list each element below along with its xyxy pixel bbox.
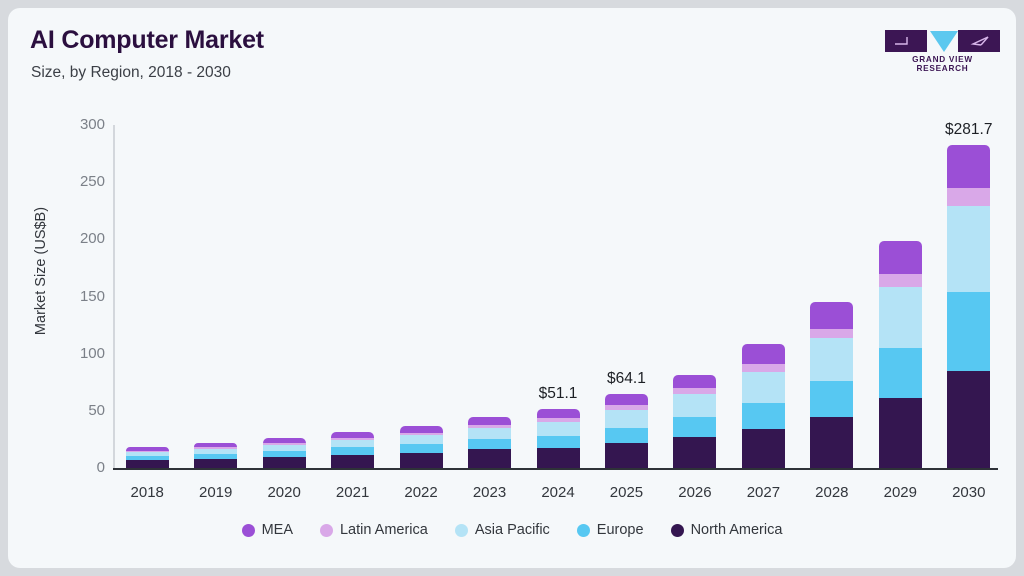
y-axis-label: Market Size (US$B) bbox=[33, 191, 49, 351]
x-axis-tick-label: 2030 bbox=[952, 484, 985, 501]
bar-segment-mea[interactable] bbox=[879, 241, 922, 274]
bar-segment-europe[interactable] bbox=[400, 443, 443, 453]
bar-segment-asia-pacific[interactable] bbox=[468, 428, 511, 439]
bar-value-label-2025: $64.1 bbox=[607, 370, 646, 388]
bar-segment-latin-america[interactable] bbox=[468, 425, 511, 429]
bar-segment-mea[interactable] bbox=[537, 409, 580, 418]
bar-segment-mea[interactable] bbox=[673, 375, 716, 388]
bar-2028[interactable] bbox=[810, 302, 853, 468]
bar-segment-asia-pacific[interactable] bbox=[947, 205, 990, 292]
bar-segment-latin-america[interactable] bbox=[879, 273, 922, 287]
x-axis-tick-label: 2029 bbox=[884, 484, 917, 501]
bar-segment-europe[interactable] bbox=[879, 348, 922, 399]
bar-2023[interactable] bbox=[468, 418, 511, 468]
legend-swatch-icon bbox=[320, 524, 333, 537]
bar-2018[interactable] bbox=[126, 447, 169, 468]
x-axis-tick-label: 2021 bbox=[336, 484, 369, 501]
bar-segment-europe[interactable] bbox=[468, 438, 511, 450]
legend-swatch-icon bbox=[242, 524, 255, 537]
bar-segment-asia-pacific[interactable] bbox=[263, 444, 306, 450]
stacked-bar-chart: Market Size (US$B) 050100150200250300 20… bbox=[8, 8, 1016, 568]
bar-segment-europe[interactable] bbox=[742, 402, 785, 429]
bar-2027[interactable] bbox=[742, 345, 785, 468]
bar-segment-europe[interactable] bbox=[194, 453, 237, 459]
bar-segment-north-america[interactable] bbox=[810, 417, 853, 468]
bar-2030[interactable] bbox=[947, 146, 990, 468]
x-axis-tick-label: 2023 bbox=[473, 484, 506, 501]
y-axis-tick-label: 150 bbox=[59, 288, 105, 305]
bar-segment-asia-pacific[interactable] bbox=[331, 440, 374, 448]
bar-segment-latin-america[interactable] bbox=[331, 438, 374, 441]
bar-segment-mea[interactable] bbox=[468, 417, 511, 425]
bar-segment-mea[interactable] bbox=[263, 438, 306, 443]
bar-2029[interactable] bbox=[879, 242, 922, 468]
bar-value-label-2024: $51.1 bbox=[539, 385, 578, 403]
x-axis-line bbox=[113, 468, 998, 470]
bar-segment-europe[interactable] bbox=[537, 435, 580, 448]
x-axis-tick-label: 2025 bbox=[610, 484, 643, 501]
bar-segment-latin-america[interactable] bbox=[537, 417, 580, 421]
chart-card: AI Computer Market Size, by Region, 2018… bbox=[8, 8, 1016, 568]
legend-label: Europe bbox=[597, 522, 644, 538]
y-axis-line bbox=[113, 125, 115, 469]
bar-segment-asia-pacific[interactable] bbox=[537, 421, 580, 436]
bar-segment-north-america[interactable] bbox=[400, 452, 443, 468]
bar-segment-north-america[interactable] bbox=[331, 454, 374, 468]
x-axis-tick-label: 2027 bbox=[747, 484, 780, 501]
bar-segment-asia-pacific[interactable] bbox=[400, 435, 443, 444]
bar-segment-north-america[interactable] bbox=[742, 429, 785, 468]
bar-segment-latin-america[interactable] bbox=[742, 363, 785, 371]
bar-2019[interactable] bbox=[194, 443, 237, 468]
bar-segment-asia-pacific[interactable] bbox=[742, 371, 785, 403]
bar-segment-latin-america[interactable] bbox=[605, 405, 648, 410]
y-axis-tick-label: 200 bbox=[59, 230, 105, 247]
bar-segment-latin-america[interactable] bbox=[947, 188, 990, 206]
x-axis-tick-label: 2018 bbox=[131, 484, 164, 501]
y-axis-tick-label: 0 bbox=[59, 459, 105, 476]
x-axis-tick-label: 2022 bbox=[404, 484, 437, 501]
bar-segment-europe[interactable] bbox=[331, 447, 374, 455]
bar-segment-mea[interactable] bbox=[605, 394, 648, 405]
bar-2025[interactable] bbox=[605, 395, 648, 468]
x-axis-tick-label: 2019 bbox=[199, 484, 232, 501]
bar-value-label-2030: $281.7 bbox=[945, 121, 992, 139]
legend-swatch-icon bbox=[455, 524, 468, 537]
bar-segment-asia-pacific[interactable] bbox=[879, 286, 922, 348]
legend-label: MEA bbox=[262, 522, 293, 538]
bar-segment-latin-america[interactable] bbox=[810, 328, 853, 338]
bar-segment-europe[interactable] bbox=[605, 427, 648, 443]
x-axis-tick-label: 2026 bbox=[678, 484, 711, 501]
bar-2022[interactable] bbox=[400, 426, 443, 468]
legend-label: Asia Pacific bbox=[475, 522, 550, 538]
bar-segment-north-america[interactable] bbox=[605, 443, 648, 468]
legend-item-north-america[interactable]: North America bbox=[671, 522, 783, 538]
bar-segment-europe[interactable] bbox=[263, 450, 306, 457]
bar-segment-mea[interactable] bbox=[400, 426, 443, 433]
bar-segment-europe[interactable] bbox=[947, 291, 990, 371]
bar-segment-europe[interactable] bbox=[673, 417, 716, 438]
bar-segment-europe[interactable] bbox=[126, 455, 169, 460]
bar-segment-north-america[interactable] bbox=[947, 371, 990, 468]
chart-legend: MEALatin AmericaAsia PacificEuropeNorth … bbox=[8, 522, 1016, 538]
y-axis-tick-label: 50 bbox=[59, 402, 105, 419]
x-axis-tick-label: 2028 bbox=[815, 484, 848, 501]
bar-segment-north-america[interactable] bbox=[879, 398, 922, 468]
bar-segment-north-america[interactable] bbox=[468, 449, 511, 468]
bar-segment-asia-pacific[interactable] bbox=[126, 451, 169, 456]
legend-swatch-icon bbox=[577, 524, 590, 537]
bar-segment-north-america[interactable] bbox=[673, 437, 716, 468]
legend-label: North America bbox=[691, 522, 783, 538]
bar-segment-north-america[interactable] bbox=[537, 448, 580, 468]
bar-segment-mea[interactable] bbox=[194, 443, 237, 447]
bar-2024[interactable] bbox=[537, 410, 580, 468]
legend-item-mea[interactable]: MEA bbox=[242, 522, 293, 538]
bar-segment-asia-pacific[interactable] bbox=[810, 338, 853, 381]
bar-segment-north-america[interactable] bbox=[126, 460, 169, 468]
bar-segment-mea[interactable] bbox=[742, 344, 785, 364]
y-axis-tick-label: 300 bbox=[59, 116, 105, 133]
y-axis-tick-label: 100 bbox=[59, 345, 105, 362]
bar-segment-mea[interactable] bbox=[947, 145, 990, 188]
legend-item-latin-america[interactable]: Latin America bbox=[320, 522, 428, 538]
bar-2020[interactable] bbox=[263, 439, 306, 468]
legend-item-europe[interactable]: Europe bbox=[577, 522, 644, 538]
x-axis-tick-label: 2024 bbox=[541, 484, 574, 501]
legend-label: Latin America bbox=[340, 522, 428, 538]
bar-segment-asia-pacific[interactable] bbox=[605, 409, 648, 428]
bar-segment-latin-america[interactable] bbox=[673, 388, 716, 394]
legend-item-asia-pacific[interactable]: Asia Pacific bbox=[455, 522, 550, 538]
bar-segment-mea[interactable] bbox=[126, 447, 169, 451]
bar-2021[interactable] bbox=[331, 433, 374, 468]
bar-segment-asia-pacific[interactable] bbox=[194, 448, 237, 454]
bar-segment-mea[interactable] bbox=[331, 432, 374, 438]
bar-segment-north-america[interactable] bbox=[194, 458, 237, 468]
bar-segment-asia-pacific[interactable] bbox=[673, 393, 716, 417]
legend-swatch-icon bbox=[671, 524, 684, 537]
bar-segment-north-america[interactable] bbox=[263, 457, 306, 468]
bar-segment-europe[interactable] bbox=[810, 381, 853, 417]
y-axis-tick-label: 250 bbox=[59, 173, 105, 190]
bar-segment-mea[interactable] bbox=[810, 302, 853, 329]
bar-2026[interactable] bbox=[673, 375, 716, 468]
x-axis-tick-label: 2020 bbox=[267, 484, 300, 501]
